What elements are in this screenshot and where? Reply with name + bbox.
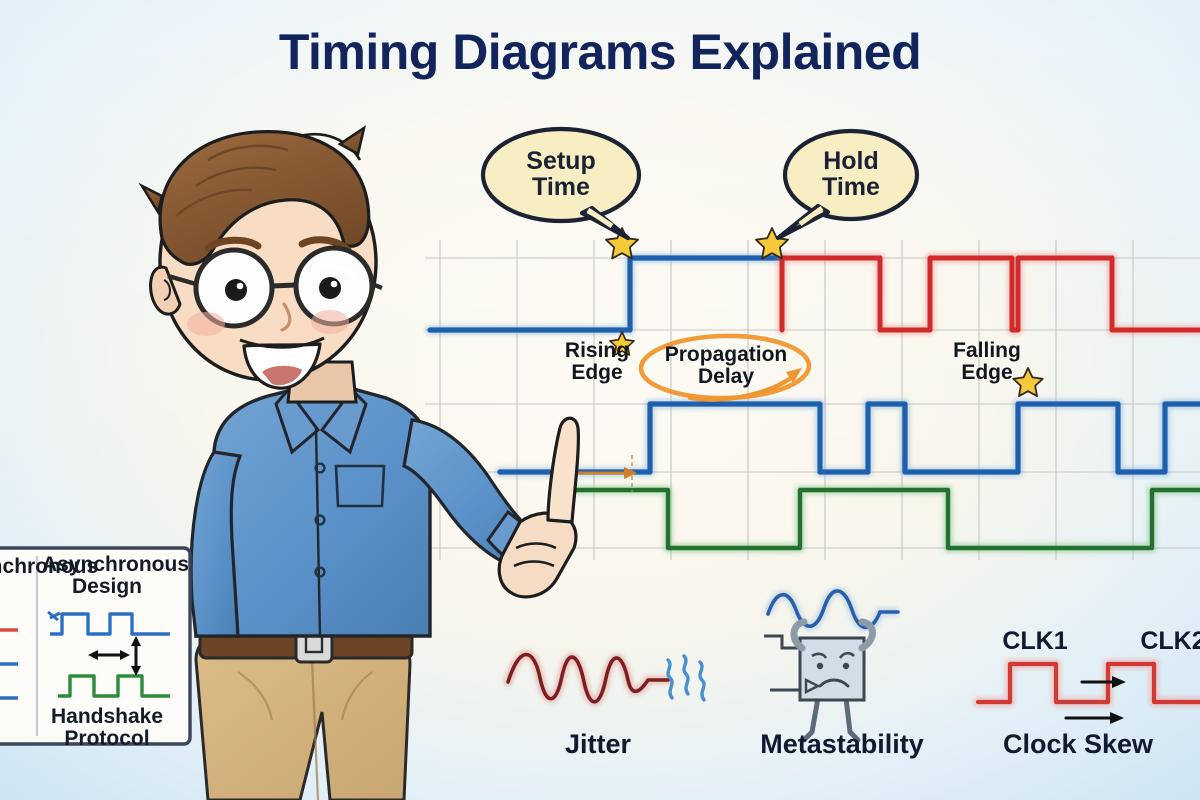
jitter-label: Jitter <box>528 730 668 758</box>
clk2-label: CLK2 <box>1138 628 1200 654</box>
rising-edge-label: Rising Edge <box>556 340 638 384</box>
callout-label-hold-time[interactable]: Hold Time <box>785 148 917 201</box>
page-title: Timing Diagrams Explained <box>0 26 1200 79</box>
callout-label-setup-time[interactable]: Setup Time <box>483 148 639 201</box>
falling-edge-label: Falling Edge <box>944 340 1030 384</box>
legend-sync-label: Synchronous <box>0 556 30 578</box>
legend-handshake-label: Handshake Protocol <box>42 706 172 750</box>
concept-icons-layer <box>0 0 1200 800</box>
clock-skew-icon <box>978 664 1200 724</box>
metastability-label: Metastability <box>742 730 942 758</box>
metastability-icon <box>764 591 898 740</box>
clock-skew-label: Clock Skew <box>988 730 1168 758</box>
jitter-icon <box>508 655 704 702</box>
poster-canvas: Timing Diagrams Explained Setup Time Hol… <box>0 0 1200 800</box>
legend-async-label: Asynchronous Design <box>42 554 172 598</box>
propagation-delay-label: Propagation Delay <box>655 344 797 388</box>
jitter-sparks <box>668 656 704 700</box>
clk1-label: CLK1 <box>1000 628 1070 654</box>
